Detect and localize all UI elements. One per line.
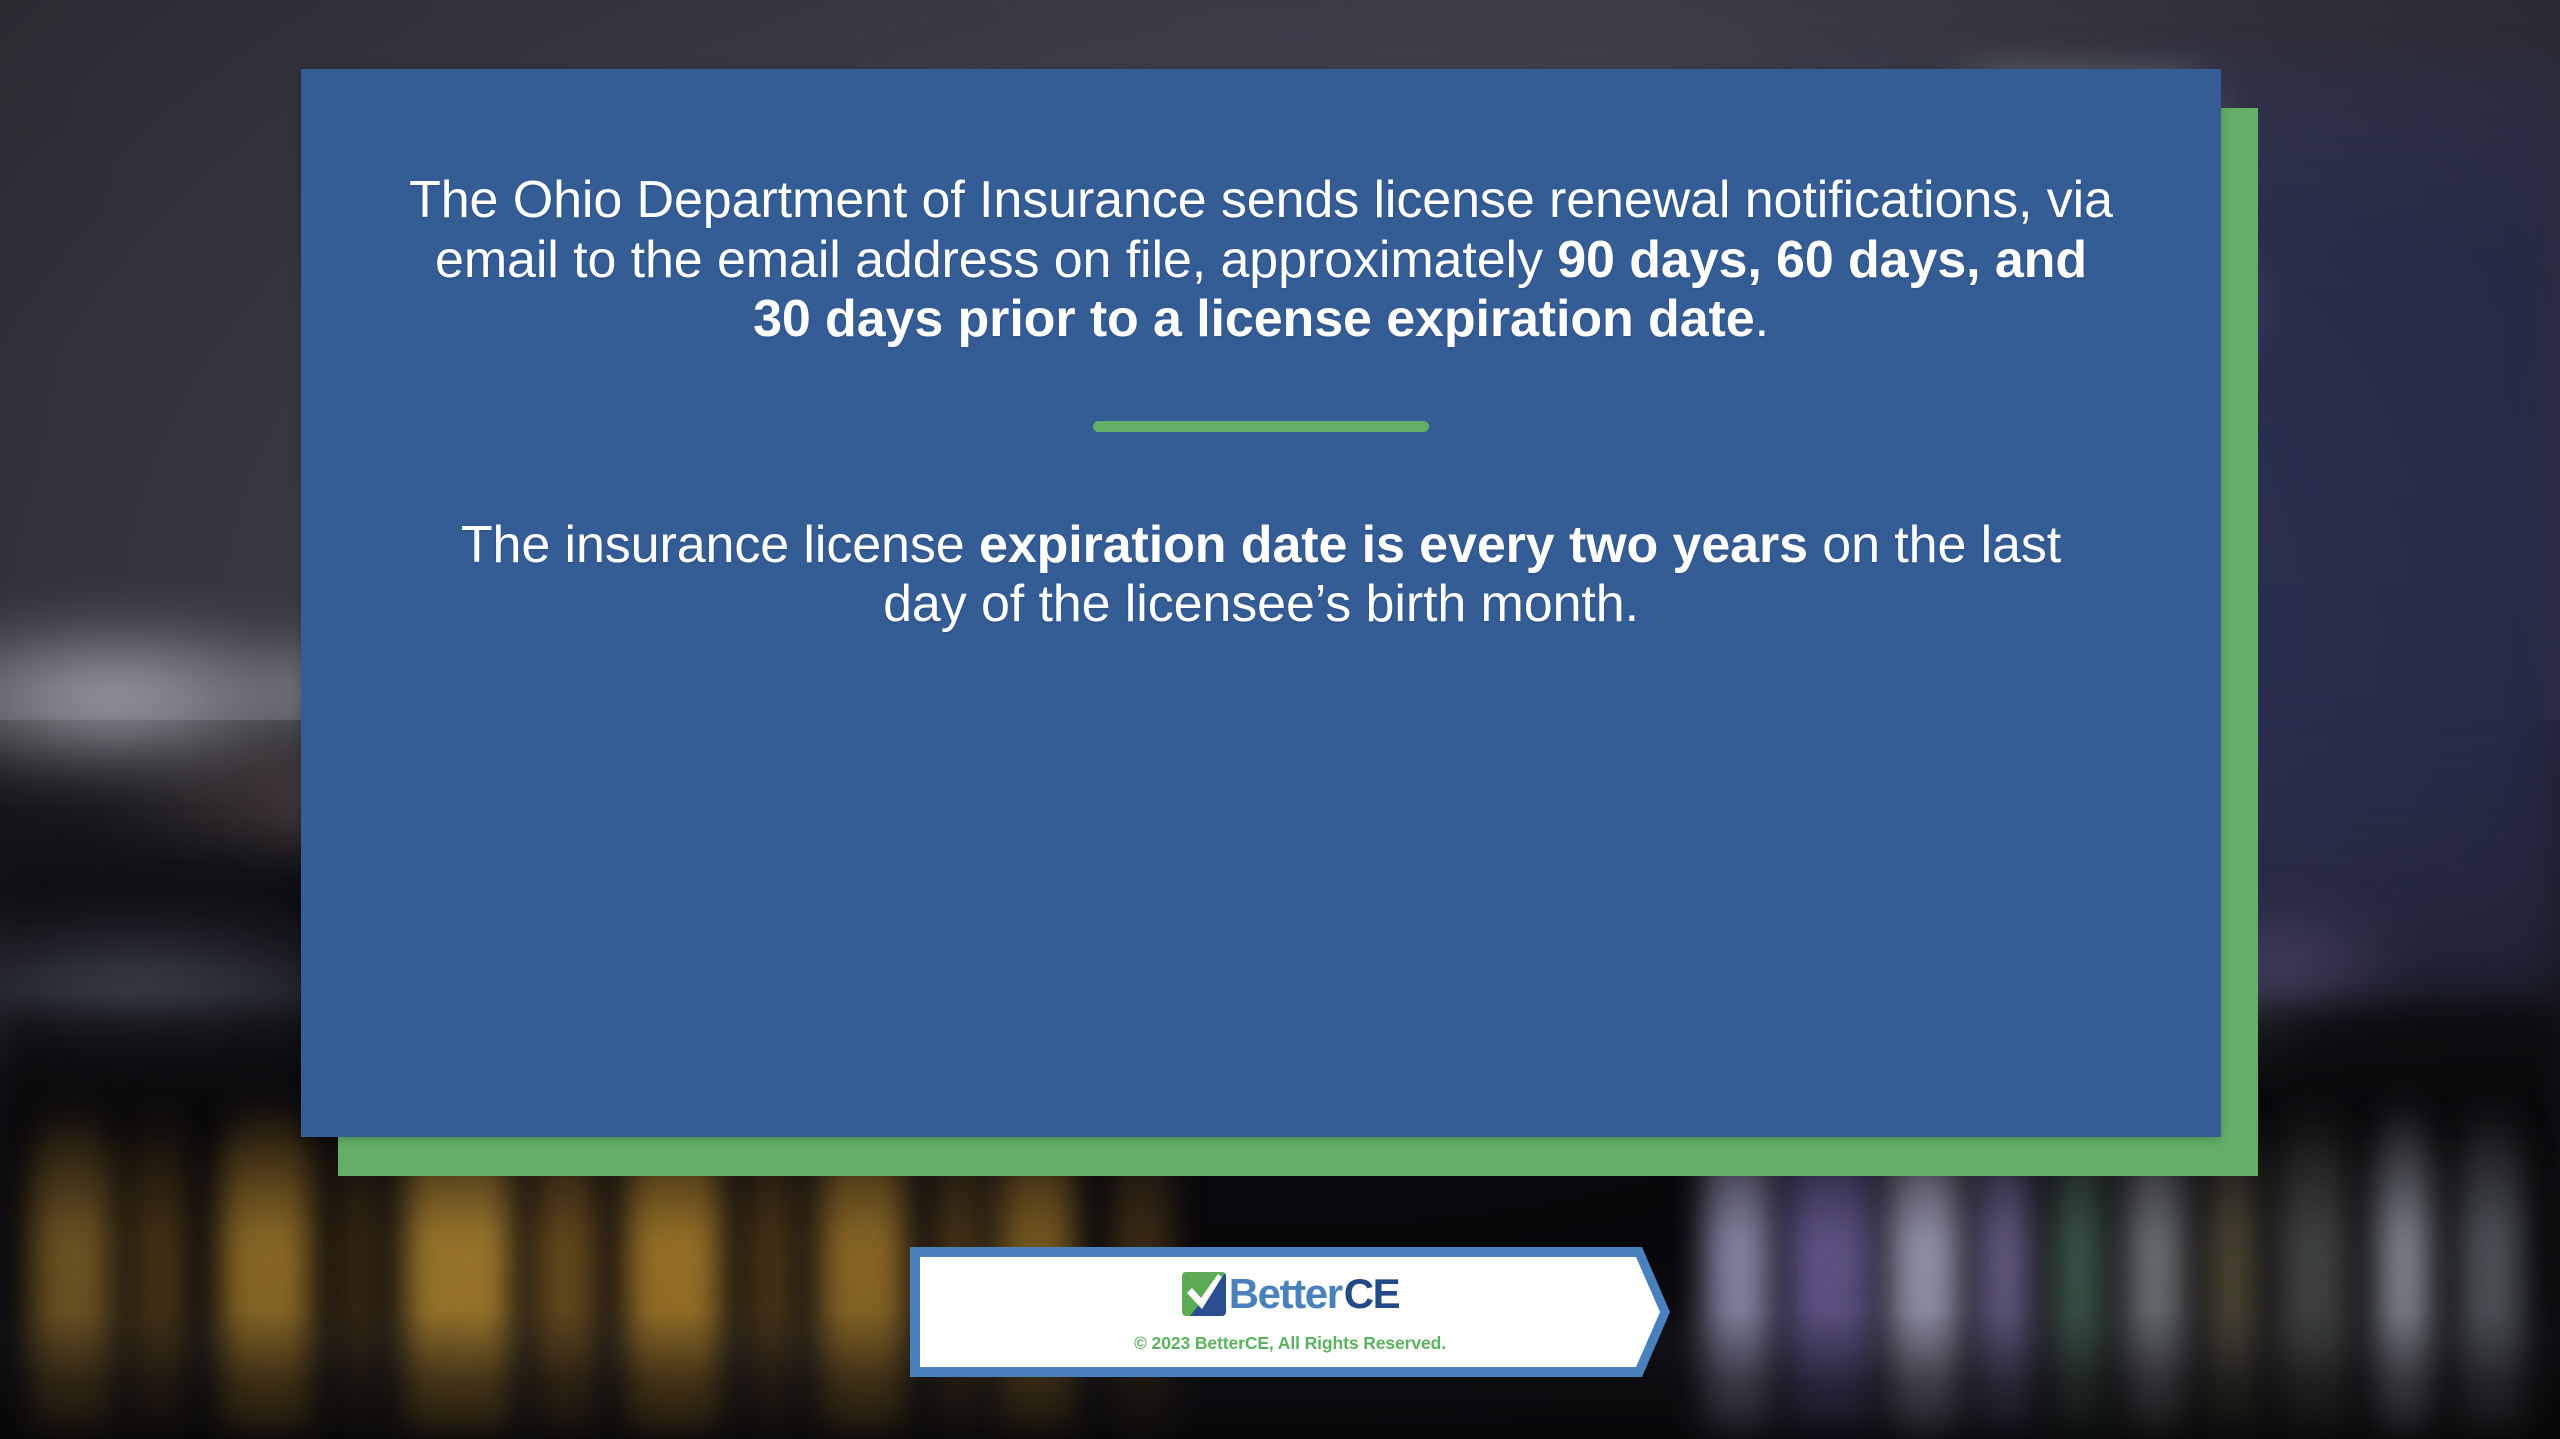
paragraph-two-text-normal-1: The insurance license [461, 516, 979, 574]
paragraph-two: The insurance license expiration date is… [441, 516, 2081, 635]
betterce-logo[interactable]: BetterCE [1181, 1271, 1400, 1317]
paragraph-one-text-normal-2: . [1755, 290, 1769, 348]
logo-word-better: Better [1229, 1273, 1342, 1315]
card-content: The Ohio Department of Insurance sends l… [301, 171, 2221, 635]
footer-badge-inner: BetterCE © 2023 BetterCE, All Rights Res… [920, 1257, 1660, 1367]
logo-word-ce: CE [1344, 1273, 1400, 1315]
footer-badge[interactable]: BetterCE © 2023 BetterCE, All Rights Res… [910, 1247, 1670, 1377]
copyright-text: © 2023 BetterCE, All Rights Reserved. [1134, 1333, 1446, 1354]
checkmark-logo-mark [1181, 1271, 1227, 1317]
paragraph-one: The Ohio Department of Insurance sends l… [401, 171, 2121, 350]
info-card: The Ohio Department of Insurance sends l… [0, 0, 2560, 1439]
paragraph-two-text-bold: expiration date is every two years [979, 516, 1808, 574]
section-divider [1093, 421, 1429, 432]
card-blue-panel: The Ohio Department of Insurance sends l… [301, 69, 2221, 1137]
